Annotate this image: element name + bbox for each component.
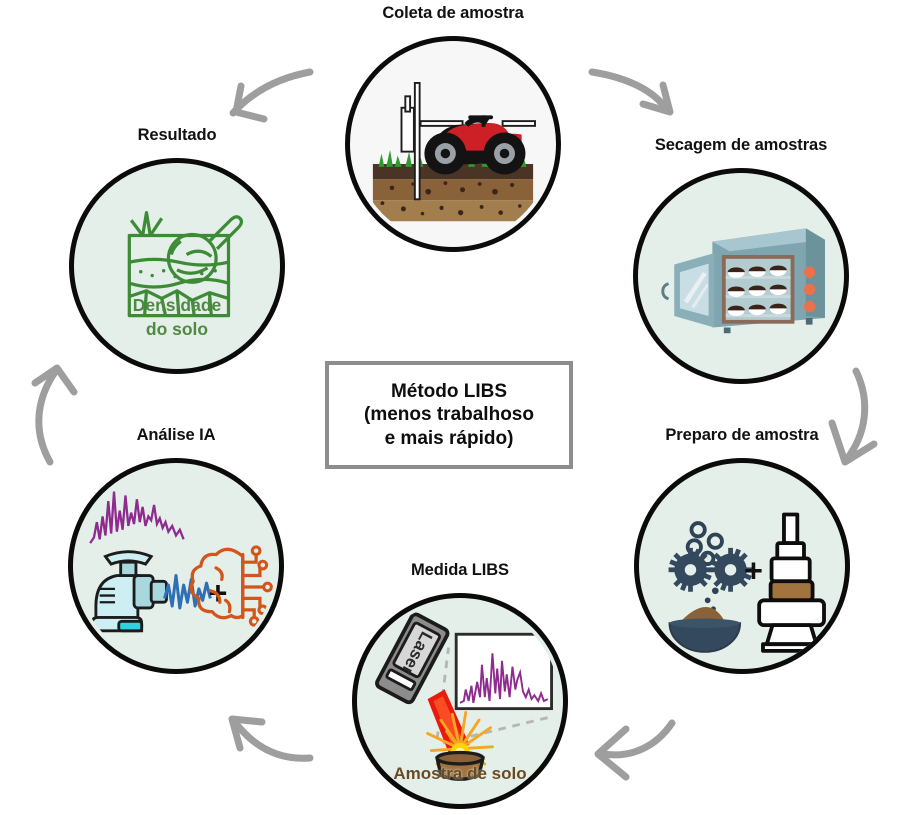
diagram-canvas: Coleta de amostra (0, 0, 900, 815)
arrow-coleta-secagem (592, 72, 670, 112)
method-box-line3: e mais rápido) (364, 427, 534, 450)
node-resultado-circle[interactable]: Densidade do solo (69, 158, 285, 374)
method-box-line1: Método LIBS (364, 380, 534, 403)
node-resultado[interactable]: Resultado (57, 122, 297, 374)
spectra-ai-brain-icon: + (73, 463, 279, 669)
arrow-resultado-coleta (233, 72, 310, 119)
node-resultado-caption-line1: Densidade (74, 295, 280, 316)
node-analise-label: Análise IA (56, 426, 296, 445)
node-analise[interactable]: Análise IA (56, 422, 296, 674)
node-medida[interactable]: Medida LIBS Laser (340, 557, 580, 815)
node-medida-caption: Amostra de solo (357, 764, 563, 784)
node-medida-circle[interactable]: Laser (352, 593, 568, 809)
node-resultado-label: Resultado (57, 126, 297, 145)
node-coleta[interactable]: Coleta de amostra (345, 0, 561, 252)
node-resultado-caption-line2: do solo (74, 319, 280, 340)
node-preparo[interactable]: Preparo de amostra (622, 422, 862, 674)
node-secagem-label: Secagem de amostras (619, 136, 863, 155)
grinding-and-press-icon: + (639, 463, 845, 669)
arrow-medida-analise (232, 719, 310, 758)
node-coleta-label: Coleta de amostra (345, 4, 561, 23)
preparo-plus-sign: + (744, 552, 763, 588)
node-preparo-circle[interactable]: + (634, 458, 850, 674)
node-preparo-label: Preparo de amostra (622, 426, 862, 445)
node-medida-label: Medida LIBS (340, 561, 580, 580)
node-coleta-circle[interactable] (345, 36, 561, 252)
arrow-preparo-medida (598, 723, 672, 777)
method-box: Método LIBS (menos trabalhoso e mais ráp… (325, 361, 573, 469)
node-analise-circle[interactable]: + (68, 458, 284, 674)
method-box-line2: (menos trabalhoso (364, 403, 534, 426)
node-secagem[interactable]: Secagem de amostras (619, 132, 863, 384)
atv-soil-sampling-icon (350, 41, 556, 247)
node-secagem-circle[interactable] (633, 168, 849, 384)
drying-oven-icon (638, 173, 844, 379)
